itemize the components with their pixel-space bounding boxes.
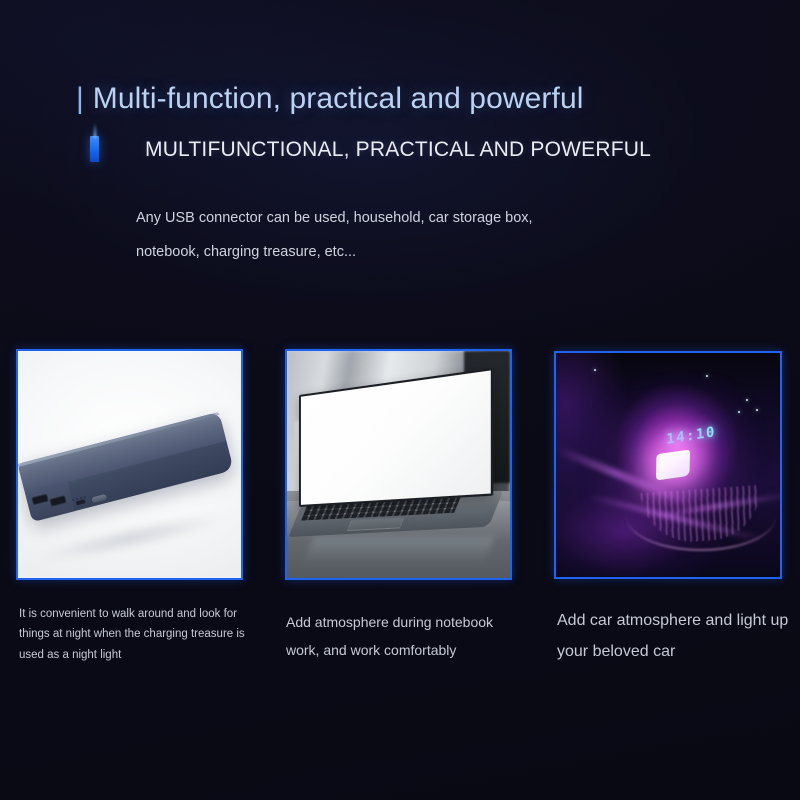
power-bank-edge-highlight [17,412,219,467]
title-pipe-icon: | [76,84,84,114]
laptop-photo [287,351,510,578]
banner-page: | Multi-function, practical and powerful… [0,0,800,800]
laptop-trackpad [347,517,405,531]
page-title: | Multi-function, practical and powerful [76,84,584,114]
light-spark-icon [594,369,596,371]
light-spark-icon [738,411,740,413]
light-spark-icon [706,375,708,377]
feature-cards: 14:10 [0,349,800,599]
usb-led-light [656,449,690,480]
page-title-text: Multi-function, practical and powerful [93,84,584,114]
caption-car-led: Add car atmosphere and light up your bel… [557,605,792,667]
caption-power-bank: It is convenient to walk around and look… [19,604,247,665]
light-spark-icon [746,399,748,401]
feature-card-power-bank [16,349,243,580]
subtitle-text: MULTIFUNCTIONAL, PRACTICAL AND POWERFUL [145,139,651,160]
laptop-image-frame [285,349,512,580]
power-bank-top-surface [17,412,226,493]
laptop-reflection [304,537,495,563]
power-bank-image-frame [16,349,243,580]
car-led-image-frame: 14:10 [554,351,782,579]
power-button-icon [90,493,108,505]
power-bank-shadow [36,507,226,568]
power-bank-body [17,412,233,522]
car-led-photo: 14:10 [556,353,780,577]
digital-clock-display: 14:10 [666,424,716,448]
caption-laptop: Add atmosphere during notebook work, and… [286,608,526,664]
feature-card-laptop [285,349,512,580]
micro-usb-port-icon [76,499,86,505]
power-bank-photo [18,351,241,578]
accent-bar-icon [90,136,99,162]
usb-port-icon [49,495,66,507]
feature-card-car-led: 14:10 [554,351,782,579]
description-text: Any USB connector can be used, household… [136,202,566,269]
light-spark-icon [756,409,758,411]
subtitle-row: MULTIFUNCTIONAL, PRACTICAL AND POWERFUL [90,136,651,162]
usb-port-icon [31,494,48,506]
